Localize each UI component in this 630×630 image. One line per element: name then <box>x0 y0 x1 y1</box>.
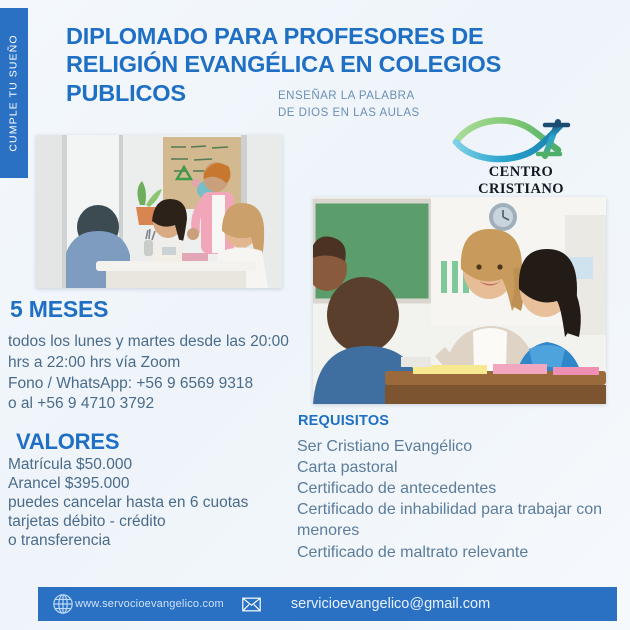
contact-footer: www.servocioevangelico.com servicioevang… <box>38 587 617 621</box>
classroom-illustration-left <box>36 135 282 288</box>
photo-classroom-right <box>313 197 606 404</box>
heading-values: VALORES <box>16 429 119 455</box>
email-link[interactable]: servicioevangelico@gmail.com <box>291 596 490 612</box>
page-subtitle: ENSEÑAR LA PALABRA DE DIOS EN LAS AULAS <box>278 88 420 121</box>
requirements-text: Ser Cristiano Evangélico Carta pastoral … <box>297 436 617 563</box>
values-text: Matrícula $50.000 Arancel $395.000 puede… <box>8 456 298 551</box>
heading-duration: 5 MESES <box>10 296 108 323</box>
globe-icon <box>52 593 74 615</box>
logo-name: CENTRO CRISTIANO <box>446 164 596 198</box>
heading-requirements: REQUISITOS <box>298 413 389 429</box>
vertical-tagline-text: CUMPLE TU SUEÑO <box>8 34 20 151</box>
photo-classroom-left <box>36 135 282 288</box>
fish-cross-icon <box>446 110 596 166</box>
vertical-tagline-tab: CUMPLE TU SUEÑO <box>0 8 28 178</box>
poster-canvas: CUMPLE TU SUEÑO DIPLOMADO PARA PROFESORE… <box>0 0 630 630</box>
envelope-icon <box>242 597 261 612</box>
logo: CENTRO CRISTIANO SERVICIO EVANGÉLICO <box>446 110 596 208</box>
website-link[interactable]: www.servocioevangelico.com <box>75 598 224 610</box>
classroom-illustration-right <box>313 197 606 404</box>
schedule-text: todos los lunes y martes desde las 20:00… <box>8 332 308 415</box>
